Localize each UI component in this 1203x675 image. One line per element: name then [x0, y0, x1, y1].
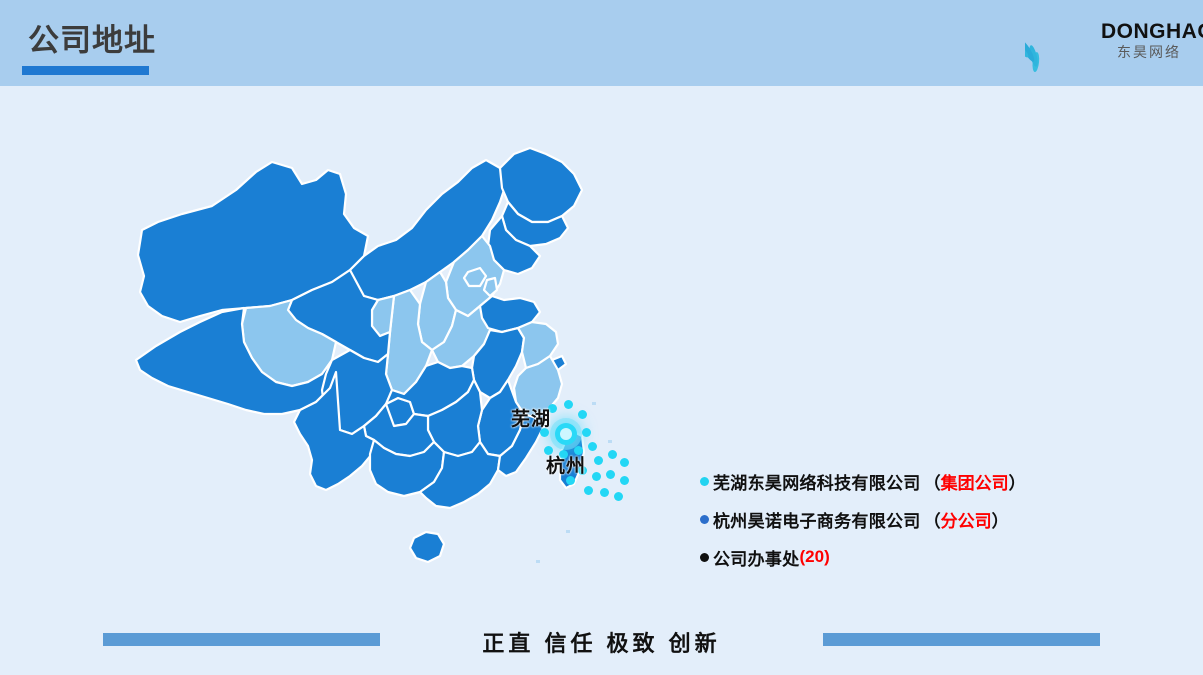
- legend-item-branch-company: 杭州昊诺电子商务有限公司 （分公司）: [700, 500, 1170, 538]
- marker-wuhu-headquarters[interactable]: [555, 423, 577, 445]
- office-marker[interactable]: [578, 410, 587, 419]
- feather-fan-logo-icon: [1025, 8, 1103, 76]
- logo-text-cn: 东昊网络: [1101, 43, 1197, 62]
- office-marker[interactable]: [582, 428, 591, 437]
- office-marker[interactable]: [608, 450, 617, 459]
- map-label-wuhu: 芜湖: [511, 404, 551, 431]
- office-marker[interactable]: [620, 476, 629, 485]
- company-logo: DONGHAO 东昊网络: [1015, 6, 1195, 78]
- china-map: 芜湖 杭州: [96, 110, 696, 610]
- legend-tag-value: 20: [805, 547, 824, 566]
- island-dot-d: [536, 560, 540, 563]
- map-label-hangzhou: 杭州: [546, 451, 586, 478]
- legend-item-group-company: 芜湖东昊网络科技有限公司 （集团公司）: [700, 462, 1170, 500]
- legend-bullet-icon: [700, 515, 709, 524]
- office-marker[interactable]: [594, 456, 603, 465]
- slide-company-address: 公司地址: [0, 0, 1203, 675]
- page-title: 公司地址: [28, 22, 156, 60]
- logo-text-en: DONGHAO: [1101, 20, 1197, 43]
- office-marker[interactable]: [614, 492, 623, 501]
- office-marker[interactable]: [620, 458, 629, 467]
- legend-tag-value: 集团公司: [941, 474, 1009, 493]
- legend-tag-value: 分公司: [941, 512, 992, 531]
- legend-tag: （集团公司）: [924, 469, 1026, 494]
- office-marker[interactable]: [606, 470, 615, 479]
- legend-label: 杭州昊诺电子商务有限公司: [713, 507, 921, 532]
- legend-bullet-icon: [700, 477, 709, 486]
- island-dot-a: [592, 402, 596, 405]
- address-legend: 芜湖东昊网络科技有限公司 （集团公司） 杭州昊诺电子商务有限公司 （分公司） 公…: [700, 462, 1170, 576]
- island-dot-b: [608, 440, 612, 443]
- legend-tag: （分公司）: [924, 507, 1009, 532]
- office-marker[interactable]: [600, 488, 609, 497]
- legend-bullet-icon: [700, 553, 709, 562]
- legend-tag: (20): [800, 547, 830, 567]
- legend-item-offices: 公司办事处 (20): [700, 538, 1170, 576]
- office-marker[interactable]: [584, 486, 593, 495]
- slide-header: 公司地址: [0, 0, 1203, 86]
- legend-label: 公司办事处: [713, 545, 800, 570]
- office-marker[interactable]: [564, 400, 573, 409]
- island-dot-c: [566, 530, 570, 533]
- logo-wordmark: DONGHAO 东昊网络: [1101, 20, 1197, 62]
- footer-slogan: 正直 信任 极致 创新: [0, 626, 1203, 658]
- title-underline: [22, 66, 149, 75]
- china-map-svg: [96, 110, 696, 610]
- province-hainan: [410, 532, 444, 562]
- office-marker[interactable]: [592, 472, 601, 481]
- legend-label: 芜湖东昊网络科技有限公司: [713, 469, 921, 494]
- office-marker[interactable]: [588, 442, 597, 451]
